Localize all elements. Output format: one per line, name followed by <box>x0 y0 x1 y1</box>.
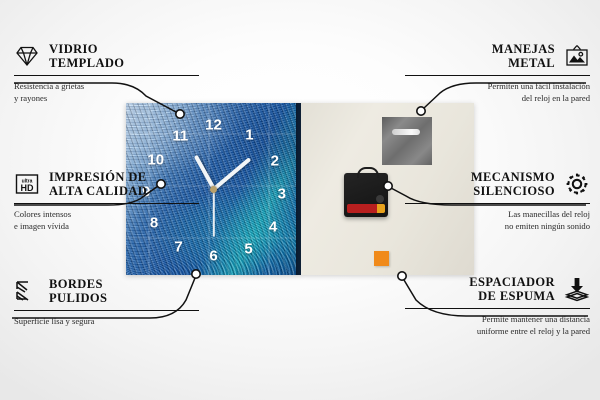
foam-spacer-arrow-icon <box>564 276 590 302</box>
feature-title-line1: VIDRIO <box>49 42 124 56</box>
feature-desc-line2: no emiten ningún sonido <box>405 221 590 233</box>
feature-desc-line2: y rayones <box>14 93 199 105</box>
feature-title-line2: METAL <box>492 56 555 70</box>
feature-title-line1: BORDES <box>49 277 107 291</box>
feature-desc-line2: uniforme entre el reloj y la pared <box>405 326 590 338</box>
feature-title-line1: ESPACIADOR <box>469 275 555 289</box>
clock-numeral-10: 10 <box>147 152 164 167</box>
foam-spacer <box>374 251 389 266</box>
ultra-hd-icon: ultra HD <box>14 171 40 197</box>
hanger-loop <box>357 167 379 178</box>
feature-title-line1: MECANISMO <box>471 170 555 184</box>
bracket-slot <box>392 129 420 135</box>
feature-rule <box>14 75 199 77</box>
feature-desc-line1: Superficie lisa y segura <box>14 316 199 328</box>
polished-edges-icon <box>14 278 40 304</box>
feature-desc-line1: Colores intensos <box>14 209 199 221</box>
clock-numeral-5: 5 <box>244 242 252 257</box>
feature-title-line2: SILENCIOSO <box>471 184 555 198</box>
feature-bordes-pulidos: BORDES PULIDOS Superficie lisa y segura <box>14 277 199 328</box>
feature-impresion-alta-calidad: ultra HD IMPRESIÓN DE ALTA CALIDAD Color… <box>14 170 199 233</box>
feature-manejas-metal: MANEJAS METAL Permiten una fácil instala… <box>405 42 590 105</box>
feature-desc-line1: Las manecillas del reloj <box>405 209 590 221</box>
feature-desc-line2: e imagen vívida <box>14 221 199 233</box>
feature-rule <box>14 310 199 312</box>
clock-numeral-6: 6 <box>209 249 217 264</box>
feature-desc-line1: Permiten una fácil instalación <box>405 81 590 93</box>
clock-numeral-2: 2 <box>271 154 279 169</box>
feature-title-line1: MANEJAS <box>492 42 555 56</box>
feature-espaciador-espuma: ESPACIADOR DE ESPUMA Permite mantener un… <box>405 275 590 338</box>
metal-hanger-bracket <box>382 117 432 165</box>
feature-title-line2: TEMPLADO <box>49 56 124 70</box>
feature-mecanismo-silencioso: MECANISMO SILENCIOSO Las manecillas del … <box>405 170 590 233</box>
clock-numeral-7: 7 <box>174 240 182 255</box>
ultra-hd-icon-text-bottom: HD <box>21 183 34 193</box>
clock-numeral-11: 11 <box>172 128 188 143</box>
feature-vidrio-templado: VIDRIO TEMPLADO Resistencia a grietas y … <box>14 42 199 105</box>
aa-battery <box>347 204 385 213</box>
clock-numeral-12: 12 <box>205 118 222 133</box>
feature-rule <box>405 75 590 77</box>
feature-title-line2: ALTA CALIDAD <box>49 184 147 198</box>
infographic-canvas: 12 1 2 3 4 5 6 7 8 9 10 11 <box>0 0 600 400</box>
feature-title-line1: IMPRESIÓN DE <box>49 170 147 184</box>
clock-numeral-3: 3 <box>278 187 286 202</box>
clock-center-cap <box>210 186 217 193</box>
clock-second-hand <box>213 189 215 237</box>
feature-desc-line2: del reloj en la pared <box>405 93 590 105</box>
hanging-frame-icon <box>564 43 590 69</box>
feature-rule <box>405 203 590 205</box>
time-set-dial <box>376 195 384 203</box>
feature-desc-line1: Resistencia a grietas <box>14 81 199 93</box>
clock-numeral-1: 1 <box>245 127 253 142</box>
diamond-icon <box>14 43 40 69</box>
feature-rule <box>14 203 199 205</box>
feature-rule <box>405 308 590 310</box>
quartz-movement <box>344 173 388 217</box>
gear-icon <box>564 171 590 197</box>
feature-title-line2: PULIDOS <box>49 291 107 305</box>
clock-numeral-4: 4 <box>269 219 277 234</box>
feature-title-line2: DE ESPUMA <box>469 289 555 303</box>
feature-desc-line1: Permite mantener una distancia <box>405 314 590 326</box>
